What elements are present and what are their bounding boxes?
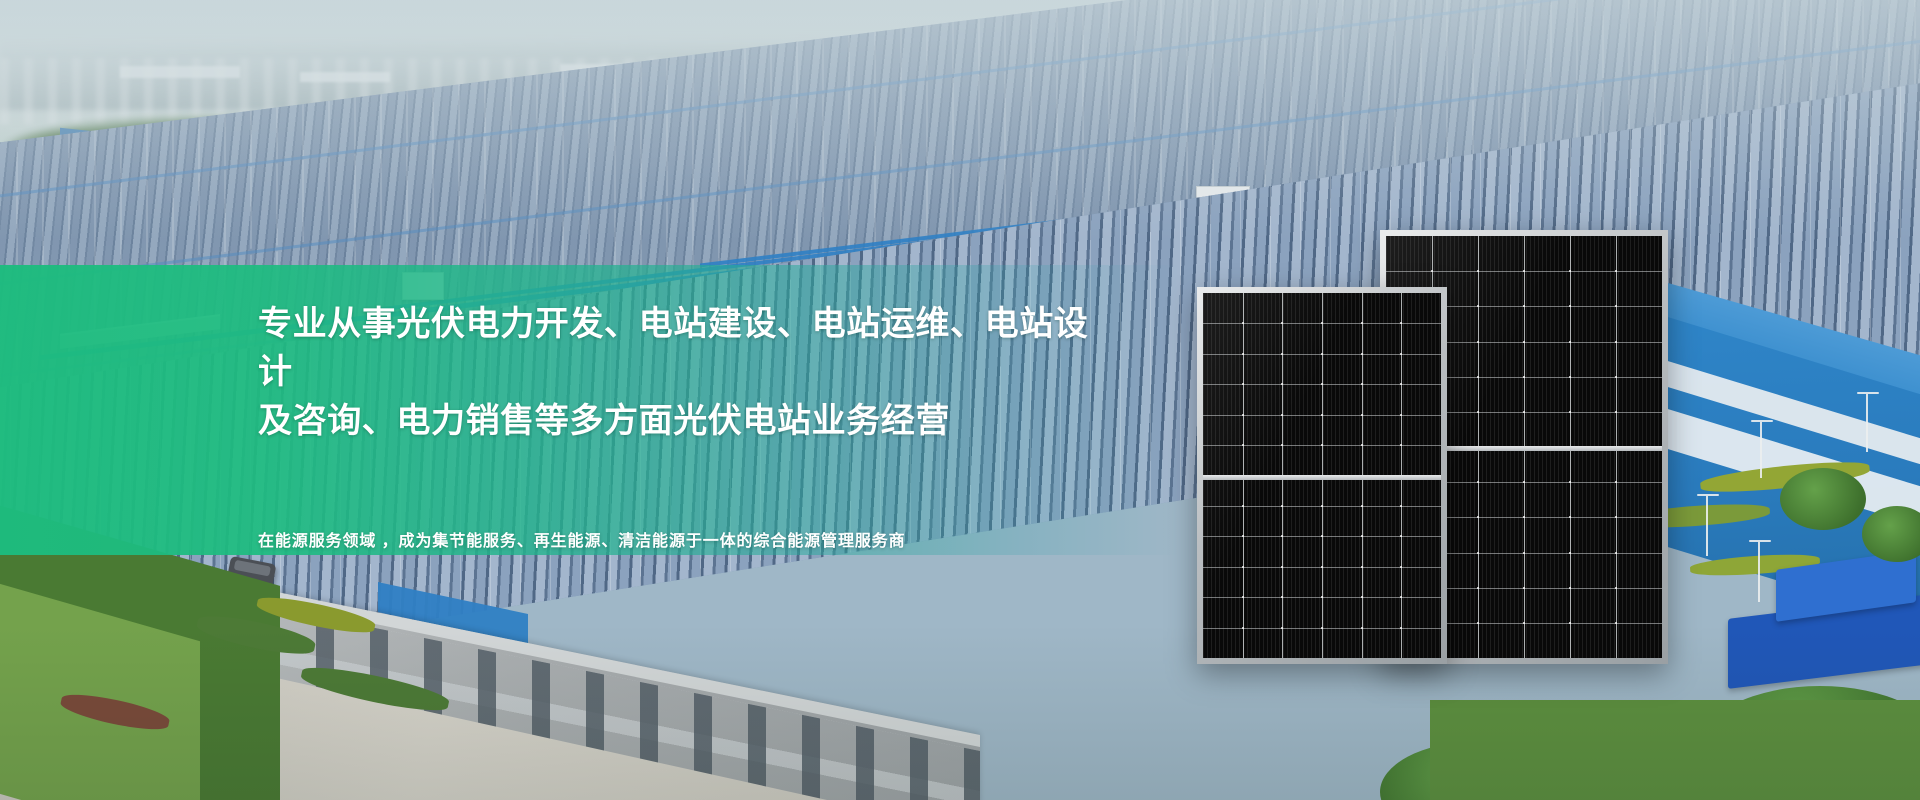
shrub bbox=[1780, 468, 1866, 530]
roof-equipment bbox=[402, 272, 444, 300]
street-lamp bbox=[1706, 494, 1708, 556]
street-lamp bbox=[1758, 540, 1760, 602]
hero-banner: 专业从事光伏电力开发、电站建设、电站运维、电站设计 及咨询、电力销售等多方面光伏… bbox=[0, 0, 1920, 800]
banner-subline: 在能源服务领域 ，成为集节能服务、再生能源、清洁能源于一体的综合能源管理服务商 bbox=[258, 529, 1098, 555]
banner-copy: 专业从事光伏电力开发、电站建设、电站运维、电站设计 及咨询、电力销售等多方面光伏… bbox=[258, 300, 1098, 554]
lawn bbox=[1430, 700, 1920, 800]
street-lamp bbox=[1760, 420, 1762, 478]
solar-module-front bbox=[1197, 287, 1447, 664]
street-lamp bbox=[1866, 392, 1868, 452]
banner-headline: 专业从事光伏电力开发、电站建设、电站运维、电站设计 及咨询、电力销售等多方面光伏… bbox=[258, 300, 1098, 445]
module-busbar bbox=[1203, 475, 1441, 480]
